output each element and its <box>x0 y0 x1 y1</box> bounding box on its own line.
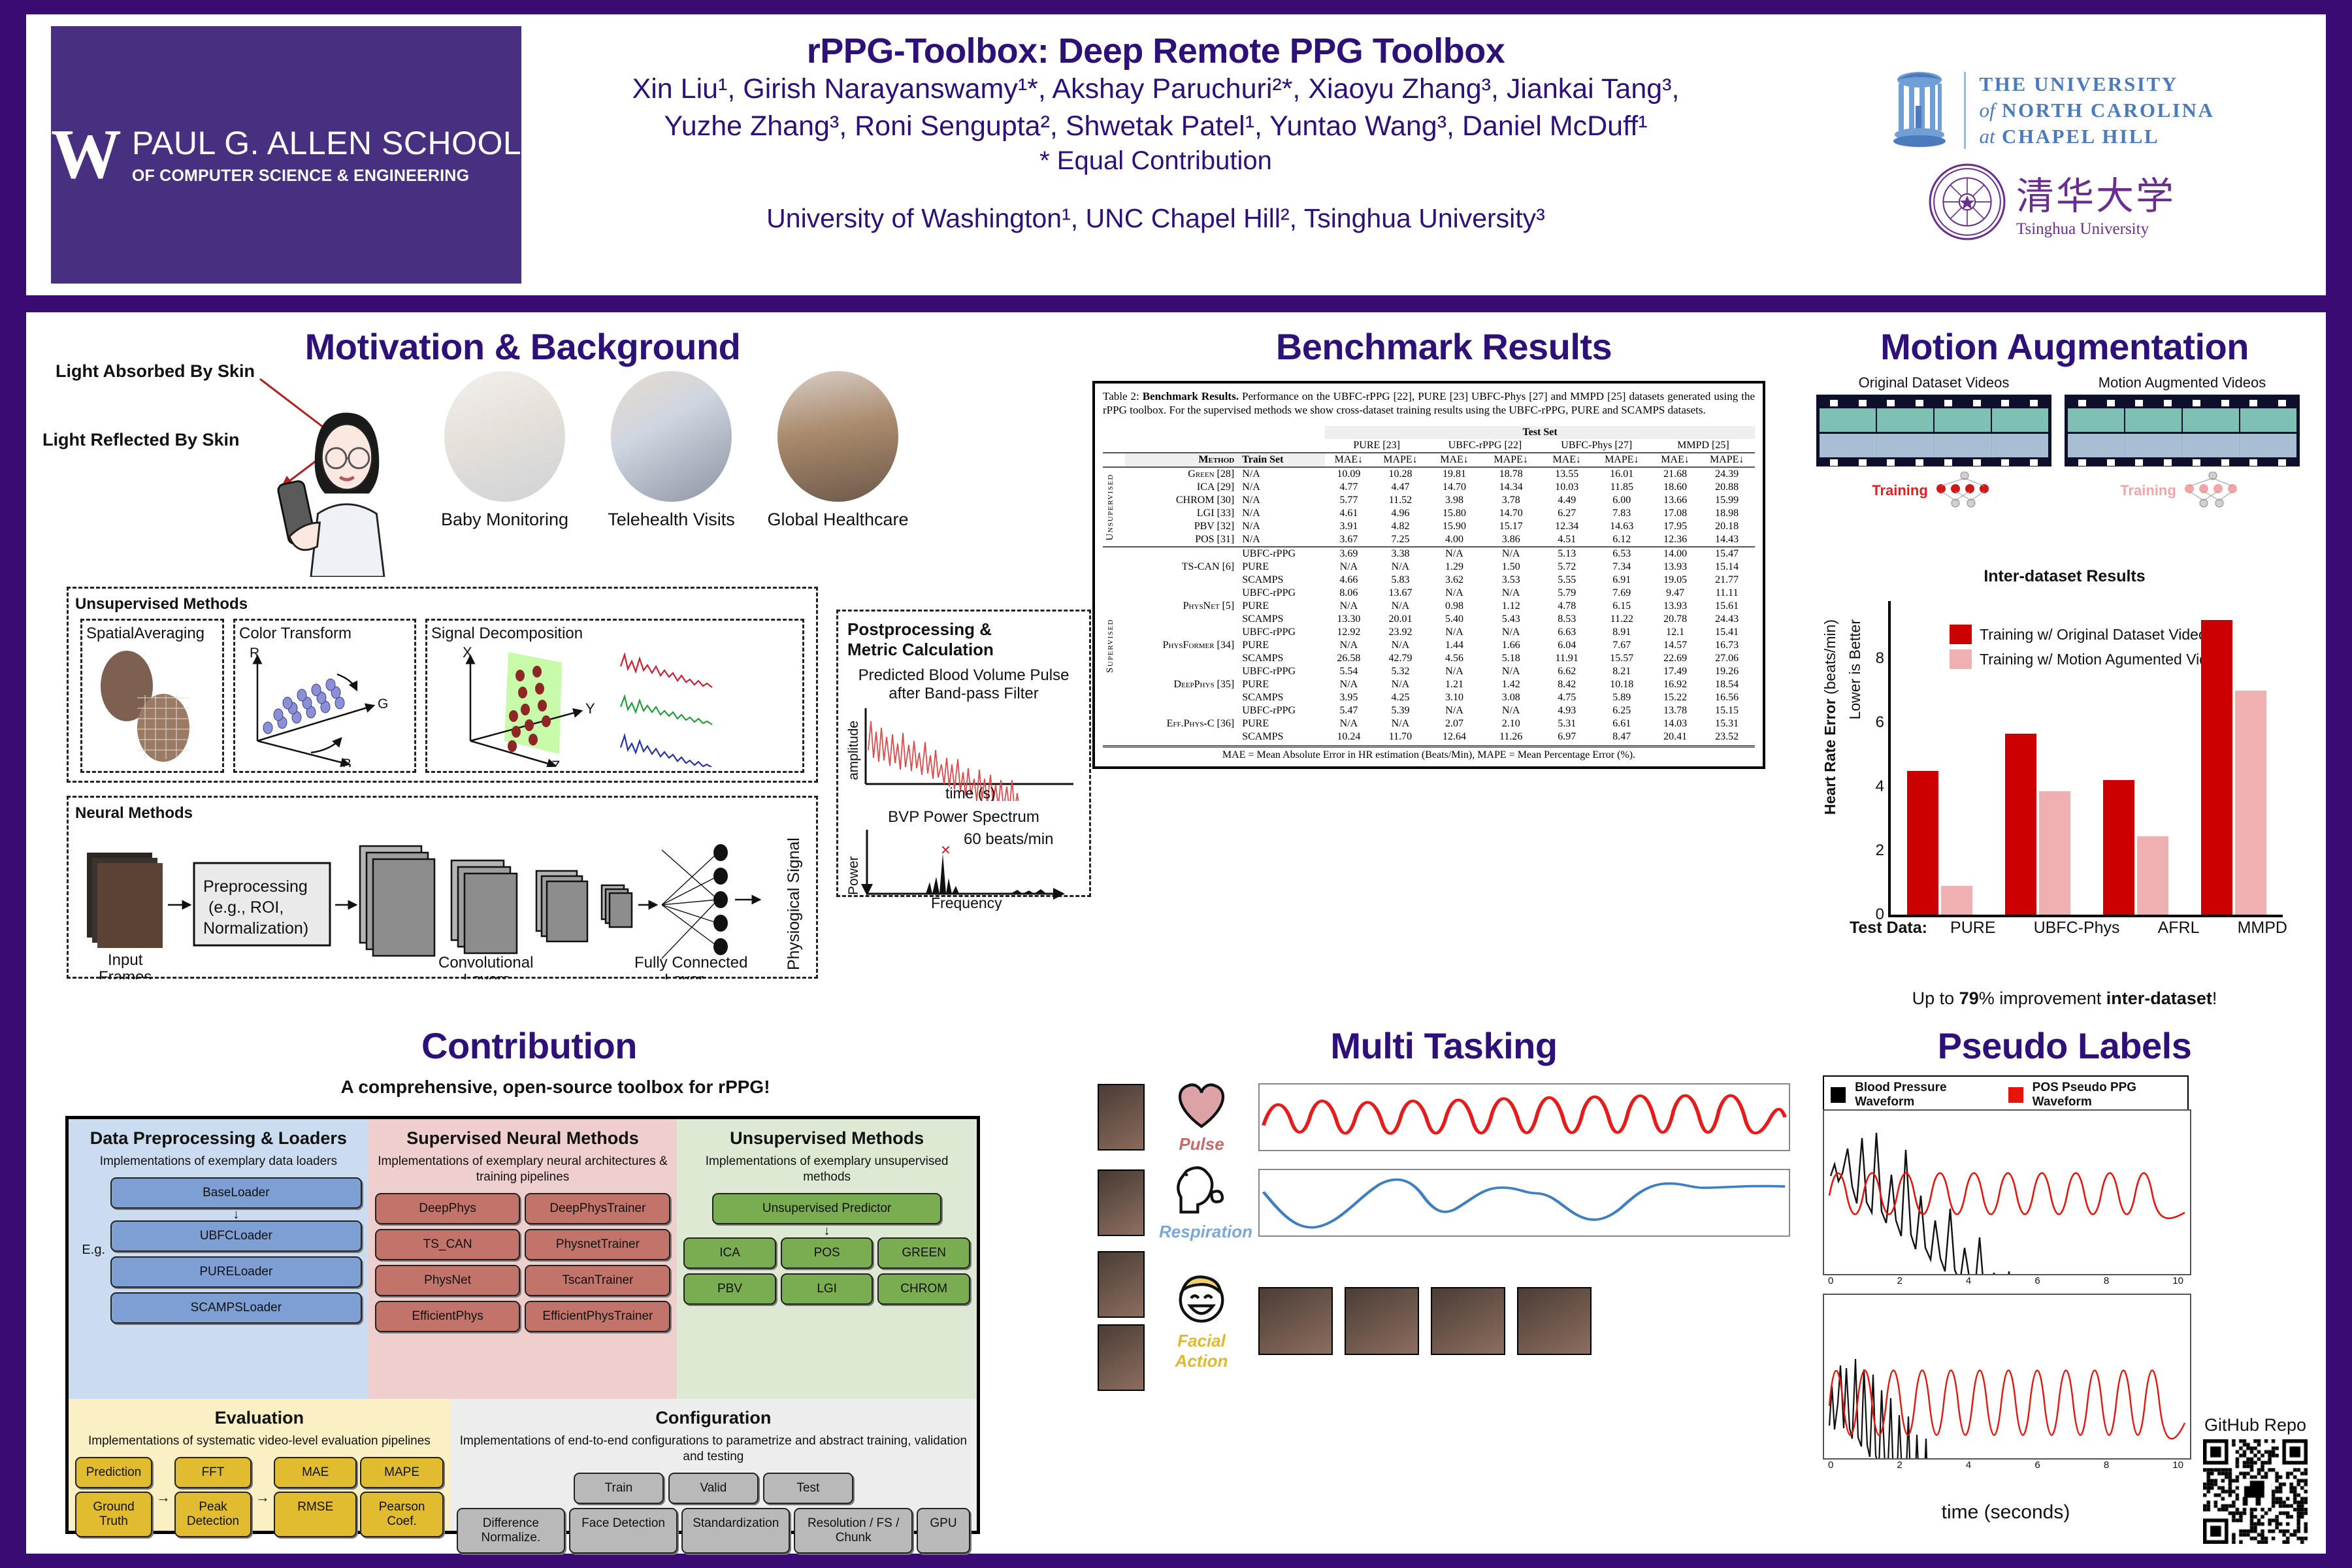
panel-label-spatial-averaging: SpatialAveraging <box>86 625 218 643</box>
footer-end: ! <box>2212 988 2217 1008</box>
node-face-detection[interactable]: Face Detection <box>569 1508 678 1554</box>
cell-value: 15.61 <box>1699 600 1755 613</box>
cell-value: 3.98 <box>1428 494 1480 507</box>
cell-method <box>1125 652 1239 665</box>
cell-value: 11.52 <box>1373 494 1429 507</box>
unc-line-1: THE UNIVERSITY <box>1979 71 2214 97</box>
node-fft[interactable]: FFT <box>174 1457 252 1488</box>
column-data-preprocessing: Data Preprocessing & Loaders Implementat… <box>69 1119 368 1399</box>
caption-baby-monitoring: Baby Monitoring <box>431 510 578 530</box>
cell-value: 15.31 <box>1699 717 1755 730</box>
eg-label: E.g. <box>75 1243 105 1258</box>
cell-value: N/A <box>1325 639 1373 652</box>
bar <box>2005 734 2036 915</box>
cell-value: 6.53 <box>1592 547 1652 561</box>
cell-value: 4.96 <box>1373 507 1429 520</box>
cell-value: 4.78 <box>1542 600 1592 613</box>
cell-value: 6.00 <box>1592 494 1652 507</box>
node-pureloader[interactable]: PURELoader <box>110 1256 362 1288</box>
cell-value: 7.34 <box>1592 561 1652 574</box>
section-title-motion: Motion Augmentation <box>1803 325 2326 368</box>
cell-value: 11.22 <box>1592 613 1652 626</box>
baby-monitoring-photo <box>444 371 565 502</box>
benchmark-table-container: Table 2: Benchmark Results. Performance … <box>1092 381 1765 769</box>
cell-trainset: UBFC-rPPG <box>1238 626 1325 639</box>
section-pseudo-labels: Pseudo Labels Blood Pressure Waveform PO… <box>1803 1024 2326 1554</box>
bvp-waveform-chart: amplitude time (s) <box>847 703 1083 801</box>
table-header-testset-row: Test Set <box>1103 426 1755 439</box>
node-standardization[interactable]: Standardization <box>681 1508 790 1554</box>
inter-dataset-bar-chart: Inter-dataset Results Heart Rate Error (… <box>1823 567 2306 985</box>
header-dataset-ubfc-rppg: UBFC-rPPG [22] <box>1428 439 1541 453</box>
cell-value: 5.40 <box>1428 613 1480 626</box>
cell-value: 3.91 <box>1325 520 1373 533</box>
node-lgi[interactable]: LGI <box>781 1273 874 1305</box>
cell-value: 5.47 <box>1325 704 1373 717</box>
unc-logo: THE UNIVERSITY of NORTH CAROLINA at CHAP… <box>1888 68 2214 153</box>
cell-value: 11.26 <box>1480 730 1542 743</box>
node-tscantrainer[interactable]: TscanTrainer <box>525 1265 670 1296</box>
cell-value: 3.86 <box>1480 533 1542 547</box>
table-row: PhysFormer [34]PUREN/AN/A1.441.666.047.6… <box>1103 639 1755 652</box>
ytick-4: 4 <box>1876 777 1891 796</box>
header-test-set: Test Set <box>1325 426 1755 439</box>
section-motion-augmentation: Motion Augmentation Original Dataset Vid… <box>1803 312 2326 1031</box>
node-train[interactable]: Train <box>574 1473 664 1504</box>
cell-value: 20.01 <box>1373 613 1429 626</box>
bar <box>1907 771 1938 915</box>
node-scampsloader[interactable]: SCAMPSLoader <box>110 1292 362 1324</box>
pseudo-xlabel: time (seconds) <box>1823 1501 2189 1524</box>
cell-value: 11.85 <box>1592 481 1652 494</box>
cell-value: 5.18 <box>1480 652 1542 665</box>
table-row: LGI [33]N/A4.614.9615.8014.706.277.8317.… <box>1103 507 1755 520</box>
header-dataset-mmpd: MMPD [25] <box>1652 439 1755 453</box>
cell-value: 4.93 <box>1542 704 1592 717</box>
cell-value: 16.56 <box>1699 691 1755 704</box>
table-header-metric-row: Method Train Set MAE↓ MAPE↓ MAE↓ MAPE↓ M… <box>1103 453 1755 467</box>
cell-method: Eff.Phys-C [36] <box>1125 717 1239 730</box>
cell-value: 21.68 <box>1652 467 1699 481</box>
cell-value: 22.69 <box>1652 652 1699 665</box>
cell-value: 5.54 <box>1325 665 1373 678</box>
postprocessing-title-l1: Postprocessing & <box>847 619 1080 640</box>
svg-text:Z: Z <box>551 758 560 767</box>
table-caption-bold: Benchmark Results. <box>1143 390 1239 402</box>
cell-value: 13.93 <box>1652 600 1699 613</box>
table-row: PhysNet [5]PUREN/AN/A0.981.124.786.1513.… <box>1103 600 1755 613</box>
legend-label-bp: Blood Pressure Waveform <box>1855 1081 1992 1109</box>
svg-text:X: X <box>463 644 472 661</box>
title-block: rPPG-Toolbox: Deep Remote PPG Toolbox Xi… <box>521 14 1790 295</box>
cell-method: POS [31] <box>1125 533 1239 547</box>
cell-value: 1.50 <box>1480 561 1542 574</box>
cell-value: 4.49 <box>1542 494 1592 507</box>
table-row: SupervisedUBFC-rPPG3.693.38N/AN/A5.136.5… <box>1103 547 1755 561</box>
cell-trainset: PURE <box>1238 600 1325 613</box>
contribution-diagram: Data Preprocessing & Loaders Implementat… <box>65 1116 980 1534</box>
chart-xticks: PUREUBFC-PhysAFRLMMPD <box>1931 919 2306 938</box>
cell-value: 2.07 <box>1428 717 1480 730</box>
cell-value: 20.18 <box>1699 520 1755 533</box>
pulse-task-icon-group: Pulse <box>1159 1080 1244 1154</box>
tsinghua-chinese-name: 清华大学 <box>2016 165 2176 220</box>
poster-header: W PAUL G. ALLEN SCHOOL OF COMPUTER SCIEN… <box>26 14 2326 295</box>
cell-value: 13.30 <box>1325 613 1373 626</box>
header-dataset-pure: PURE [23] <box>1325 439 1428 453</box>
uw-logo-line1: PAUL G. ALLEN SCHOOL <box>132 124 521 162</box>
node-test[interactable]: Test <box>763 1473 853 1504</box>
section-motivation: Motivation & Background Light Absorbed B… <box>26 312 1085 1031</box>
column-title-supervised: Supervised Neural Methods <box>375 1128 671 1149</box>
cell-value: 12.34 <box>1542 520 1592 533</box>
cell-value: 7.67 <box>1592 639 1652 652</box>
cell-value: 6.61 <box>1592 717 1652 730</box>
svg-text:(e.g., ROI,: (e.g., ROI, <box>208 898 284 917</box>
chart-xaxis: Test Data: PUREUBFC-PhysAFRLMMPD <box>1823 919 2306 938</box>
face-thumbnail <box>1098 1169 1145 1236</box>
node-pbv[interactable]: PBV <box>683 1273 776 1305</box>
group-label-supervised: Supervised <box>1105 619 1116 673</box>
facial-action-task-icon-group: Facial Action <box>1159 1271 1244 1371</box>
chart-ylabel-sub: Lower is Better <box>1846 619 1864 719</box>
cell-value: 4.77 <box>1325 481 1373 494</box>
cell-value: 42.79 <box>1373 652 1429 665</box>
motion-footer-note: Up to 79% improvement inter-dataset! <box>1803 988 2326 1009</box>
column-supervised-neural: Supervised Neural Methods Implementation… <box>368 1119 678 1399</box>
chart-xlabel: Test Data: <box>1823 919 1931 938</box>
cell-value: 15.57 <box>1592 652 1652 665</box>
method-pipeline-diagram: Unsupervised Methods SpatialAveraging <box>67 587 851 985</box>
table-header-dataset-row: PURE [23] UBFC-rPPG [22] UBFC-Phys [27] … <box>1103 439 1755 453</box>
cell-trainset: SCAMPS <box>1238 574 1325 587</box>
cell-value: 12.92 <box>1325 626 1373 639</box>
film-strips: Original Dataset Videos Training <box>1816 374 2313 510</box>
node-ground-truth[interactable]: Ground Truth <box>75 1492 152 1537</box>
column-desc-supervised: Implementations of exemplary neural arch… <box>375 1154 671 1185</box>
cell-value: 23.92 <box>1373 626 1429 639</box>
telehealth-photo <box>611 371 732 502</box>
training-augmented: Training <box>2065 472 2300 510</box>
cell-value: 21.77 <box>1699 574 1755 587</box>
cell-value: 15.80 <box>1428 507 1480 520</box>
svg-text:Convolutional: Convolutional <box>438 954 533 972</box>
cell-value: 20.88 <box>1699 481 1755 494</box>
cell-value: 15.41 <box>1699 626 1755 639</box>
cell-value: 6.12 <box>1592 533 1652 547</box>
xtick: 8 <box>2104 1275 2109 1286</box>
node-baseloader[interactable]: BaseLoader <box>110 1177 362 1209</box>
application-item: Global Healthcare <box>764 371 911 530</box>
node-mae[interactable]: MAE <box>274 1457 357 1488</box>
table-row: SCAMPS10.2411.7012.6411.266.978.4720.412… <box>1103 730 1755 743</box>
evaluation-title: Evaluation <box>75 1408 444 1428</box>
svg-text:G: G <box>378 696 388 711</box>
node-peak-detection[interactable]: Peak Detection <box>174 1492 252 1537</box>
cell-value: N/A <box>1325 717 1373 730</box>
pseudo-legend: Blood Pressure Waveform POS Pseudo PPG W… <box>1823 1075 2189 1115</box>
node-mape[interactable]: MAPE <box>360 1457 443 1488</box>
node-pos[interactable]: POS <box>781 1237 874 1269</box>
spectrum-annotation-text: 60 beats/min <box>964 830 1053 848</box>
node-resolution-fs-chunk[interactable]: Resolution / FS / Chunk <box>794 1508 913 1554</box>
application-item: Baby Monitoring <box>431 371 578 530</box>
cell-trainset: UBFC-rPPG <box>1238 547 1325 561</box>
poster-title: rPPG-Toolbox: Deep Remote PPG Toolbox <box>807 31 1505 71</box>
cell-value: 14.70 <box>1428 481 1480 494</box>
arrow-down-icon: ↓ <box>683 1224 970 1237</box>
svg-text:Layer: Layer <box>664 971 704 979</box>
node-prediction[interactable]: Prediction <box>75 1457 152 1488</box>
cell-trainset: UBFC-rPPG <box>1238 665 1325 678</box>
cell-value: 5.72 <box>1542 561 1592 574</box>
cell-value: 1.21 <box>1428 678 1480 691</box>
table-row: UnsupervisedGreen [28]N/A10.0910.2819.81… <box>1103 467 1755 481</box>
caption-global-healthcare: Global Healthcare <box>764 510 911 530</box>
cell-value: 26.58 <box>1325 652 1373 665</box>
task-row-pulse: Pulse <box>1098 1080 1790 1154</box>
node-ubfcloader[interactable]: UBFCLoader <box>110 1220 362 1252</box>
task-label-pulse: Pulse <box>1159 1134 1244 1154</box>
cell-value: 15.90 <box>1428 520 1480 533</box>
svg-text:Y: Y <box>585 700 595 717</box>
column-title-data-preprocessing: Data Preprocessing & Loaders <box>75 1128 362 1149</box>
section-title-pseudo: Pseudo Labels <box>1803 1024 2326 1067</box>
pseudo-chart-top <box>1823 1109 2191 1275</box>
node-unsupervised-predictor[interactable]: Unsupervised Predictor <box>712 1193 941 1224</box>
cell-value: 3.53 <box>1480 574 1542 587</box>
xtick: 6 <box>2034 1460 2040 1471</box>
cell-value: 16.73 <box>1699 639 1755 652</box>
cell-value: N/A <box>1480 587 1542 600</box>
cell-value: 6.04 <box>1542 639 1592 652</box>
cell-value: 10.03 <box>1542 481 1592 494</box>
node-rmse[interactable]: RMSE <box>274 1492 357 1537</box>
node-physnet[interactable]: PhysNet <box>375 1265 521 1296</box>
input-frames-label-l2: Frames <box>99 968 152 979</box>
arrow-down-icon: ↓ <box>110 1209 362 1220</box>
header-metric: MAPE↓ <box>1373 453 1429 467</box>
face-roi-grid-icon <box>86 643 217 767</box>
unc-at: at <box>1979 125 1995 148</box>
table-footnote: MAE = Mean Absolute Error in HR estimati… <box>1103 745 1755 761</box>
cell-trainset: SCAMPS <box>1238 652 1325 665</box>
cell-value: 3.95 <box>1325 691 1373 704</box>
svg-text:Normalization): Normalization) <box>203 919 308 938</box>
cell-trainset: UBFC-rPPG <box>1238 587 1325 600</box>
landmark-thumbnail <box>1345 1287 1419 1355</box>
node-deepphystrainer[interactable]: DeepPhysTrainer <box>525 1193 670 1224</box>
cell-value: 14.34 <box>1480 481 1542 494</box>
cell-value: 5.31 <box>1542 717 1592 730</box>
qr-code-icon[interactable] <box>2203 1439 2308 1544</box>
cell-value: 15.47 <box>1699 547 1755 561</box>
label-light-reflected: Light Reflected By Skin <box>42 430 240 450</box>
cell-value: 3.38 <box>1373 547 1429 561</box>
table-body-supervised: SupervisedUBFC-rPPG3.693.38N/AN/A5.136.5… <box>1103 547 1755 743</box>
cell-value: 12.1 <box>1652 626 1699 639</box>
legend-swatch-pos <box>2008 1087 2023 1103</box>
table-caption-prefix: Table 2: <box>1103 390 1139 402</box>
cell-value: 5.13 <box>1542 547 1592 561</box>
cell-trainset: N/A <box>1238 533 1325 547</box>
header-metric: MAE↓ <box>1652 453 1699 467</box>
section-benchmark: Benchmark Results Table 2: Benchmark Res… <box>1085 312 1803 1031</box>
table-row: ICA [29]N/A4.774.4714.7014.3410.0311.851… <box>1103 481 1755 494</box>
cell-value: 14.63 <box>1592 520 1652 533</box>
header-method: Method <box>1125 453 1239 467</box>
node-efficientphystrainer[interactable]: EfficientPhysTrainer <box>525 1301 670 1332</box>
bar <box>2201 620 2232 915</box>
neural-methods-title: Neural Methods <box>75 804 809 823</box>
cell-value: 3.78 <box>1480 494 1542 507</box>
cell-value: 17.08 <box>1652 507 1699 520</box>
bvp-power-spectrum-chart: Power 60 beats/min ✕ Frequency <box>847 826 1083 911</box>
header-metric: MAPE↓ <box>1480 453 1542 467</box>
cell-method: PhysFormer [34] <box>1125 639 1239 652</box>
bvp-chart-title-l2: after Band-pass Filter <box>847 685 1080 703</box>
node-difference-normalize[interactable]: Difference Normalize. <box>457 1508 565 1554</box>
xtick: 2 <box>1897 1460 1902 1471</box>
cell-value: 5.43 <box>1480 613 1542 626</box>
spectrum-title: BVP Power Spectrum <box>847 808 1080 826</box>
cell-value: 20.78 <box>1652 613 1699 626</box>
xtick-label: AFRL <box>2158 919 2200 938</box>
cell-value: 1.12 <box>1480 600 1542 613</box>
header-metric: MAPE↓ <box>1699 453 1755 467</box>
cell-value: 13.67 <box>1373 587 1429 600</box>
application-item: Telehealth Visits <box>598 371 745 530</box>
node-valid[interactable]: Valid <box>668 1473 759 1504</box>
cell-trainset: PURE <box>1238 678 1325 691</box>
cell-value: 2.10 <box>1480 717 1542 730</box>
global-healthcare-photo <box>777 371 898 502</box>
cell-trainset: PURE <box>1238 639 1325 652</box>
bar <box>2137 836 2168 915</box>
caption-augmented-videos: Motion Augmented Videos <box>2065 374 2300 391</box>
column-unsupervised: Unsupervised Methods Implementations of … <box>677 1119 977 1399</box>
unc-line-3: CHAPEL HILL <box>2002 125 2159 148</box>
footer-pre: Up to <box>1912 988 1959 1008</box>
svg-text:Physiogical Signal: Physiogical Signal <box>785 838 803 970</box>
uw-w-mark: W <box>51 126 118 184</box>
cell-value: N/A <box>1480 665 1542 678</box>
cell-value: 6.97 <box>1542 730 1592 743</box>
cell-value: 7.83 <box>1592 507 1652 520</box>
chart-ylabel: Heart Rate Error (beats/min) <box>1821 619 1839 815</box>
cell-value: 1.66 <box>1480 639 1542 652</box>
cell-method <box>1125 626 1239 639</box>
bvp-chart-title-l1: Predicted Blood Volume Pulse <box>847 666 1080 685</box>
panel-label-color-transform: Color Transform <box>239 625 410 643</box>
node-chrom[interactable]: CHROM <box>877 1273 970 1305</box>
cell-value: 8.91 <box>1592 626 1652 639</box>
header-dataset-ubfc-phys: UBFC-Phys [27] <box>1542 439 1652 453</box>
node-physnettrainer[interactable]: PhysnetTrainer <box>525 1229 670 1260</box>
xtick: 4 <box>1966 1460 1971 1471</box>
arrow-right-icon: → <box>255 1489 270 1506</box>
benchmark-results-table: Test Set PURE [23] UBFC-rPPG [22] UBFC-P… <box>1103 426 1755 743</box>
cell-value: 11.11 <box>1699 587 1755 600</box>
group-label-unsupervised: Unsupervised <box>1105 474 1116 541</box>
cell-value: 6.25 <box>1592 704 1652 717</box>
face-thumbnail <box>1098 1324 1145 1391</box>
bar-group <box>1907 601 1972 915</box>
uw-allen-school-logo: W PAUL G. ALLEN SCHOOL OF COMPUTER SCIEN… <box>51 26 521 284</box>
filmstrip-augmented <box>2065 395 2300 466</box>
xtick: 8 <box>2104 1460 2109 1471</box>
svg-text:time (s): time (s) <box>945 785 996 801</box>
node-pearson-coef[interactable]: Pearson Coef. <box>360 1492 443 1537</box>
cell-value: 10.18 <box>1592 678 1652 691</box>
cell-value: 19.81 <box>1428 467 1480 481</box>
cell-value: 12.36 <box>1652 533 1699 547</box>
cell-value: 3.67 <box>1325 533 1373 547</box>
cell-method <box>1125 587 1239 600</box>
cell-method: Green [28] <box>1125 467 1239 481</box>
cell-value: 13.55 <box>1542 467 1592 481</box>
cell-value: 8.53 <box>1542 613 1592 626</box>
footer-mid: % improvement <box>1979 988 2106 1008</box>
poster-canvas: W PAUL G. ALLEN SCHOOL OF COMPUTER SCIEN… <box>0 0 2352 1568</box>
cell-trainset: PURE <box>1238 561 1325 574</box>
node-ica[interactable]: ICA <box>683 1237 776 1269</box>
cell-method <box>1125 691 1239 704</box>
xtick-label: MMPD <box>2238 919 2287 938</box>
cell-method: TS-CAN [6] <box>1125 561 1239 574</box>
label-light-absorbed: Light Absorbed By Skin <box>56 361 255 382</box>
cell-value: 5.89 <box>1592 691 1652 704</box>
github-repo-label: GitHub Repo <box>2197 1415 2314 1435</box>
node-tscan[interactable]: TS_CAN <box>375 1229 521 1260</box>
person-with-phone-illustration <box>268 387 425 577</box>
node-gpu[interactable]: GPU <box>917 1508 970 1554</box>
respiration-waveform-chart <box>1258 1169 1790 1237</box>
svg-text:Layers: Layers <box>463 971 510 979</box>
application-photos: Baby Monitoring Telehealth Visits Global… <box>431 371 911 530</box>
table-row: SCAMPS3.954.253.103.084.755.8915.2216.56 <box>1103 691 1755 704</box>
node-green[interactable]: GREEN <box>877 1237 970 1269</box>
xtick-label: PURE <box>1950 919 1995 938</box>
cell-method: DeepPhys [35] <box>1125 678 1239 691</box>
node-deepphys[interactable]: DeepPhys <box>375 1193 521 1224</box>
legend-label-pos: POS Pseudo PPG Waveform <box>2033 1081 2181 1109</box>
cell-value: 15.99 <box>1699 494 1755 507</box>
cell-trainset: SCAMPS <box>1238 613 1325 626</box>
cell-method <box>1125 547 1239 561</box>
cell-value: 14.70 <box>1480 507 1542 520</box>
cell-value: N/A <box>1428 626 1480 639</box>
node-efficientphys[interactable]: EfficientPhys <box>375 1301 521 1332</box>
chart-plot-area: Training w/ Original Dataset Videos Trai… <box>1888 601 2283 917</box>
equal-contribution-note: * Equal Contribution <box>1039 146 1272 176</box>
cell-value: 16.92 <box>1652 678 1699 691</box>
respiration-task-icon-group: Respiration <box>1159 1164 1244 1242</box>
postprocessing-box: Postprocessing & Metric Calculation Pred… <box>836 610 1091 897</box>
cell-value: 4.75 <box>1542 691 1592 704</box>
column-title-unsupervised: Unsupervised Methods <box>683 1128 970 1149</box>
svg-text:Preprocessing: Preprocessing <box>203 877 308 896</box>
chart-title: Inter-dataset Results <box>1823 567 2306 586</box>
cell-value: 10.28 <box>1373 467 1429 481</box>
table-row: UBFC-rPPG12.9223.92N/AN/A6.638.9112.115.… <box>1103 626 1755 639</box>
cell-value: 13.93 <box>1652 561 1699 574</box>
cell-value: 10.09 <box>1325 467 1373 481</box>
cell-value: 3.62 <box>1428 574 1480 587</box>
cell-value: 5.83 <box>1373 574 1429 587</box>
github-repo-block[interactable]: GitHub Repo <box>2197 1415 2314 1547</box>
ytick-8: 8 <box>1876 649 1891 668</box>
